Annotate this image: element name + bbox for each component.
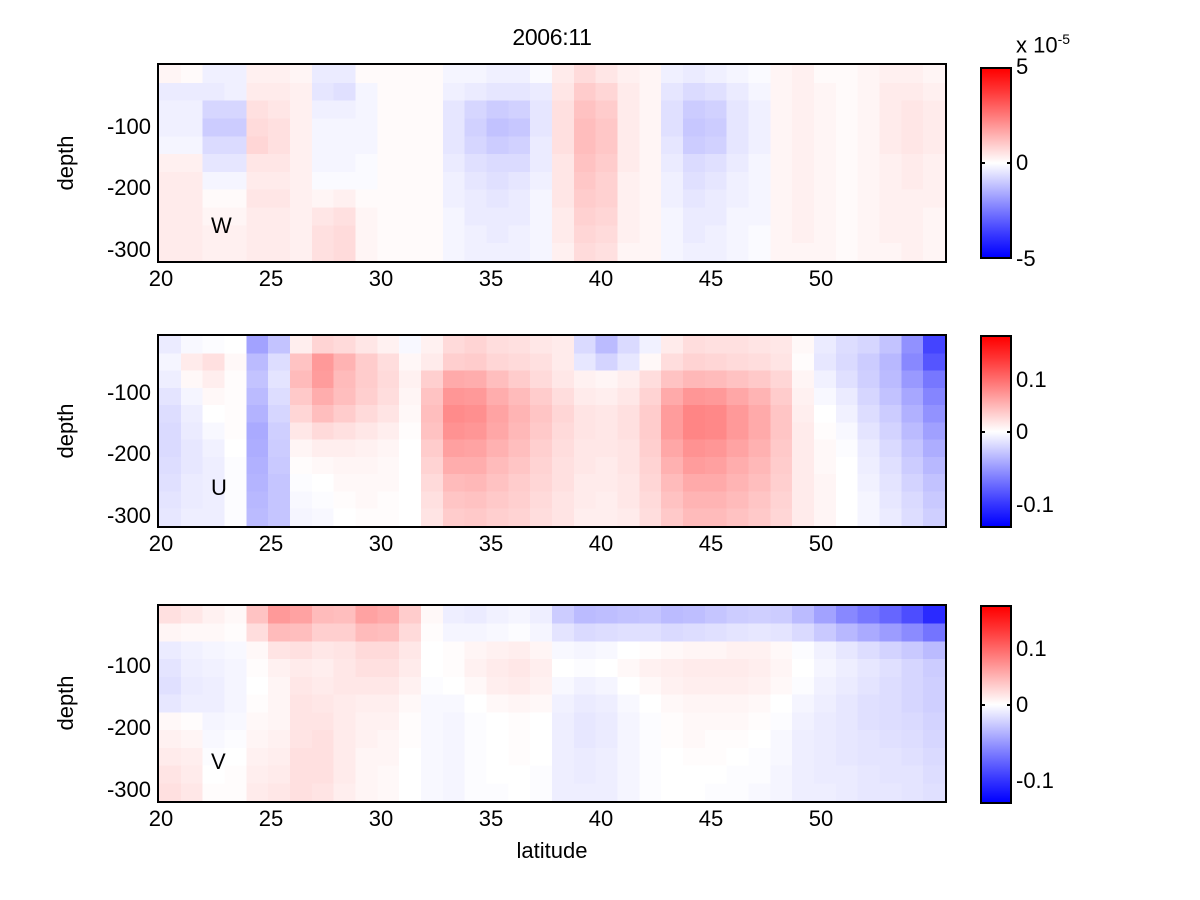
colorbar-w-tick-mid-left bbox=[980, 162, 985, 164]
colorbar-v-label-0: 0.1 bbox=[1016, 638, 1047, 660]
x-tick-w-5: 45 bbox=[681, 268, 741, 290]
x-tick-v-0: 20 bbox=[131, 808, 191, 830]
colorbar-w-exponent: x 10-5 bbox=[1016, 28, 1070, 56]
x-tick-w-2: 30 bbox=[351, 268, 411, 290]
panel-label-w: W bbox=[211, 215, 232, 237]
x-tick-w-0: 20 bbox=[131, 268, 191, 290]
colorbar-w-label-2: -5 bbox=[1016, 248, 1036, 270]
x-tick-w-1: 25 bbox=[241, 268, 301, 290]
colorbar-v-tick-mid-left bbox=[980, 704, 985, 706]
y-tick-w-2: -300 bbox=[61, 239, 151, 261]
heatmap-w bbox=[159, 65, 945, 261]
colorbar-u-tick-mid-right bbox=[1007, 431, 1012, 433]
x-tick-w-6: 50 bbox=[791, 268, 851, 290]
colorbar-v-label-2: -0.1 bbox=[1016, 770, 1054, 792]
colorbar-v-label-1: 0 bbox=[1016, 694, 1028, 716]
heatmap-v bbox=[159, 606, 945, 801]
panel-v: V bbox=[157, 604, 947, 803]
panel-u: U bbox=[157, 334, 947, 528]
x-tick-u-3: 35 bbox=[461, 533, 521, 555]
x-axis-label: latitude bbox=[457, 840, 647, 862]
colorbar-w-tick-mid-right bbox=[1007, 162, 1012, 164]
panel-label-v: V bbox=[211, 751, 226, 773]
x-tick-v-2: 30 bbox=[351, 808, 411, 830]
x-tick-u-5: 45 bbox=[681, 533, 741, 555]
y-tick-w-0: -100 bbox=[61, 116, 151, 138]
colorbar-u-label-1: 0 bbox=[1016, 421, 1028, 443]
x-tick-v-3: 35 bbox=[461, 808, 521, 830]
y-axis-label-w: depth bbox=[55, 93, 77, 233]
x-tick-v-6: 50 bbox=[791, 808, 851, 830]
x-tick-v-5: 45 bbox=[681, 808, 741, 830]
x-tick-u-4: 40 bbox=[571, 533, 631, 555]
figure-root: 2006:11 W depth -100 -200 -300 20 25 30 … bbox=[0, 0, 1200, 900]
panel-label-u: U bbox=[211, 477, 227, 499]
x-tick-w-4: 40 bbox=[571, 268, 631, 290]
y-tick-v-0: -100 bbox=[61, 655, 151, 677]
colorbar-w-label-0: 5 bbox=[1016, 56, 1028, 78]
colorbar-u-tick-mid-left bbox=[980, 431, 985, 433]
heatmap-u bbox=[159, 336, 945, 526]
x-tick-v-4: 40 bbox=[571, 808, 631, 830]
x-tick-v-1: 25 bbox=[241, 808, 301, 830]
x-tick-w-3: 35 bbox=[461, 268, 521, 290]
y-tick-u-0: -100 bbox=[61, 382, 151, 404]
x-tick-u-2: 30 bbox=[351, 533, 411, 555]
x-tick-u-0: 20 bbox=[131, 533, 191, 555]
colorbar-u-label-0: 0.1 bbox=[1016, 369, 1047, 391]
y-tick-u-2: -300 bbox=[61, 505, 151, 527]
y-tick-w-1: -200 bbox=[61, 177, 151, 199]
figure-title: 2006:11 bbox=[157, 24, 947, 50]
colorbar-u-label-2: -0.1 bbox=[1016, 494, 1054, 516]
y-tick-u-1: -200 bbox=[61, 443, 151, 465]
colorbar-v-tick-mid-right bbox=[1007, 704, 1012, 706]
y-tick-v-2: -300 bbox=[61, 779, 151, 801]
colorbar-w-exponent-power: -5 bbox=[1058, 31, 1070, 47]
y-axis-label-v: depth bbox=[55, 633, 77, 773]
panel-w: W bbox=[157, 63, 947, 263]
x-tick-u-1: 25 bbox=[241, 533, 301, 555]
y-tick-v-1: -200 bbox=[61, 717, 151, 739]
x-tick-u-6: 50 bbox=[791, 533, 851, 555]
colorbar-w-label-1: 0 bbox=[1016, 152, 1028, 174]
